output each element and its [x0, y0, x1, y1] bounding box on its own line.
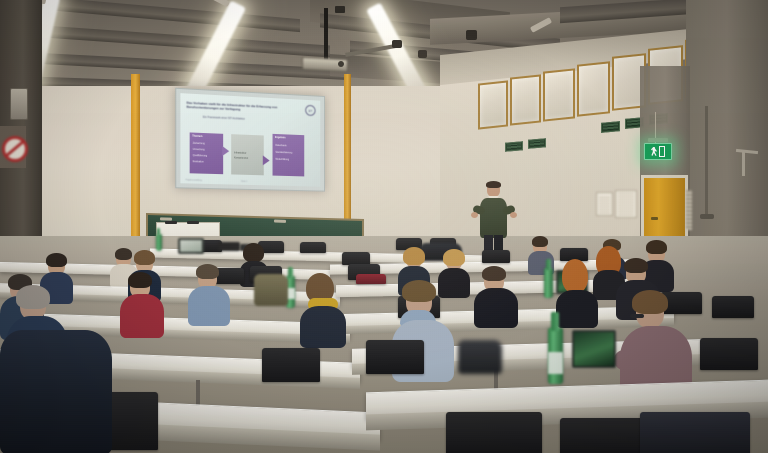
- student-hair: [562, 259, 588, 293]
- pipe-collar: [700, 214, 714, 219]
- slide-box-right: Ergebnis Daten­basis Standardisierung We…: [273, 134, 305, 177]
- presenter-hair: [486, 181, 501, 188]
- wall-poster: [615, 190, 637, 218]
- door-side-panel: [686, 190, 692, 230]
- projector-mount-pole: [324, 8, 328, 60]
- student-top: [188, 286, 230, 326]
- wall-bracket: [742, 150, 745, 176]
- orange-pillar-strip: [131, 74, 140, 239]
- slide-box-item: Qualifizierung: [193, 155, 207, 159]
- whiteboard-marker[interactable]: [165, 221, 177, 224]
- student-hair: [196, 264, 219, 279]
- slide-footer-left: Projektvorstellung: [186, 179, 202, 181]
- exit-sign-housing: [648, 138, 668, 142]
- lecture-hall-photo: Das Vorhaben stellt für die Infrastruktu…: [0, 0, 768, 453]
- chair[interactable]: [712, 296, 754, 318]
- backpack: [458, 340, 502, 374]
- laptop-screen: [574, 332, 614, 366]
- slide-box-center: Infrastruktur Kompetenzen: [231, 134, 264, 175]
- bottle-neck: [288, 267, 293, 278]
- slide-box-item: Kompetenzen: [234, 157, 248, 160]
- student-top: [120, 294, 164, 338]
- clerestory-window: [478, 80, 508, 129]
- slide-arrow-right-icon: [263, 155, 270, 165]
- chair[interactable]: [356, 274, 386, 284]
- chair[interactable]: [700, 338, 758, 370]
- ventilation-grille: [505, 141, 523, 152]
- eyeglasses: [630, 314, 644, 318]
- student-hair: [632, 290, 668, 314]
- laptop[interactable]: [572, 330, 616, 368]
- slide-box-left: Themen Zielsetzung Umsetzung Qualifizier…: [190, 132, 224, 174]
- student-hair: [646, 240, 667, 254]
- student-hair: [403, 247, 425, 265]
- orange-pillar-strip: [344, 74, 351, 224]
- projector-lens: [338, 61, 344, 67]
- chair[interactable]: [446, 412, 542, 453]
- wall-speaker: [10, 88, 28, 120]
- student-hair: [134, 250, 155, 265]
- mount-bracket: [392, 40, 402, 48]
- slide-footer-center: Seite 1: [241, 180, 247, 182]
- water-bottle[interactable]: [544, 268, 553, 298]
- student-hair: [115, 248, 132, 260]
- slide-box-heading: Ergebnis: [275, 136, 286, 139]
- ventilation-grille: [601, 121, 620, 133]
- chair[interactable]: [366, 340, 424, 374]
- presenter: [473, 182, 515, 258]
- slide-box-item: Daten­basis: [275, 145, 286, 148]
- student-hair: [482, 266, 506, 281]
- ceiling-spot-light: [418, 50, 427, 58]
- slide-title: Das Vorhaben stellt für die Infrastruktu…: [187, 101, 294, 115]
- desk-leg: [196, 380, 200, 406]
- student-arm: [614, 350, 640, 370]
- student-hair: [532, 236, 548, 247]
- student-top: [556, 290, 598, 328]
- drain-pipe: [705, 106, 708, 218]
- exit-door-icon: [659, 146, 665, 157]
- student-hair: [624, 258, 648, 273]
- slide-box-item: Evaluation: [193, 161, 204, 164]
- ceiling-spot-light: [335, 6, 345, 13]
- student-top: [474, 288, 518, 328]
- no-smoking-icon: [2, 136, 28, 162]
- slide-box-item: Standardisierung: [275, 152, 292, 156]
- water-bottle[interactable]: [156, 234, 162, 251]
- chair[interactable]: [262, 348, 320, 382]
- laptop[interactable]: [178, 238, 204, 254]
- student-top: [438, 268, 470, 298]
- student-top: [300, 306, 346, 348]
- slide-arrow-right-icon: [222, 146, 229, 156]
- bottle-neck: [546, 259, 551, 270]
- clerestory-window: [577, 61, 610, 116]
- bottle-neck: [157, 228, 160, 235]
- emergency-exit-sign: [644, 143, 672, 160]
- wall-poster: [596, 192, 613, 216]
- chair[interactable]: [300, 242, 326, 253]
- slide-box-item: Infrastruktur: [234, 152, 246, 155]
- clerestory-window: [543, 68, 575, 121]
- student-hair: [402, 280, 436, 302]
- projection-screen: Das Vorhaben stellt für die Infrastruktu…: [175, 88, 325, 192]
- presenter-hand-left: [471, 212, 478, 218]
- clerestory-window: [510, 74, 541, 125]
- student-top: [0, 330, 112, 453]
- running-man-icon: [651, 147, 657, 156]
- chair[interactable]: [482, 250, 510, 263]
- slide-box-item: Weiterbildung: [275, 159, 289, 162]
- av-equipment: [218, 242, 240, 251]
- bottle-label: [548, 352, 563, 374]
- student-hair: [16, 285, 50, 309]
- student-hair: [443, 249, 465, 266]
- chair[interactable]: [560, 418, 652, 453]
- slide-subtitle: Ein Framework einer IST-Architektur: [203, 116, 282, 123]
- ventilation-grille: [528, 138, 546, 149]
- slide-box-item: Umsetzung: [193, 149, 205, 152]
- door-handle[interactable]: [651, 217, 658, 220]
- laptop-screen: [180, 240, 202, 252]
- student-hair: [243, 243, 264, 262]
- chair[interactable]: [640, 412, 750, 453]
- ceiling-spot-light: [466, 30, 477, 40]
- bottle-neck: [551, 312, 559, 331]
- slide-box-heading: Themen: [192, 135, 202, 138]
- slide-logo: ET: [305, 105, 315, 116]
- backpack: [254, 274, 288, 306]
- student-hair: [128, 272, 152, 288]
- student-hair: [46, 253, 67, 267]
- presentation-slide: Das Vorhaben stellt für die Infrastruktu…: [180, 93, 320, 187]
- whiteboard-marker[interactable]: [187, 221, 199, 224]
- slide-box-item: Zielsetzung: [193, 143, 205, 146]
- presenter-hand-right: [510, 212, 517, 218]
- board-clip: [274, 220, 286, 223]
- presenter-sweater: [480, 198, 507, 238]
